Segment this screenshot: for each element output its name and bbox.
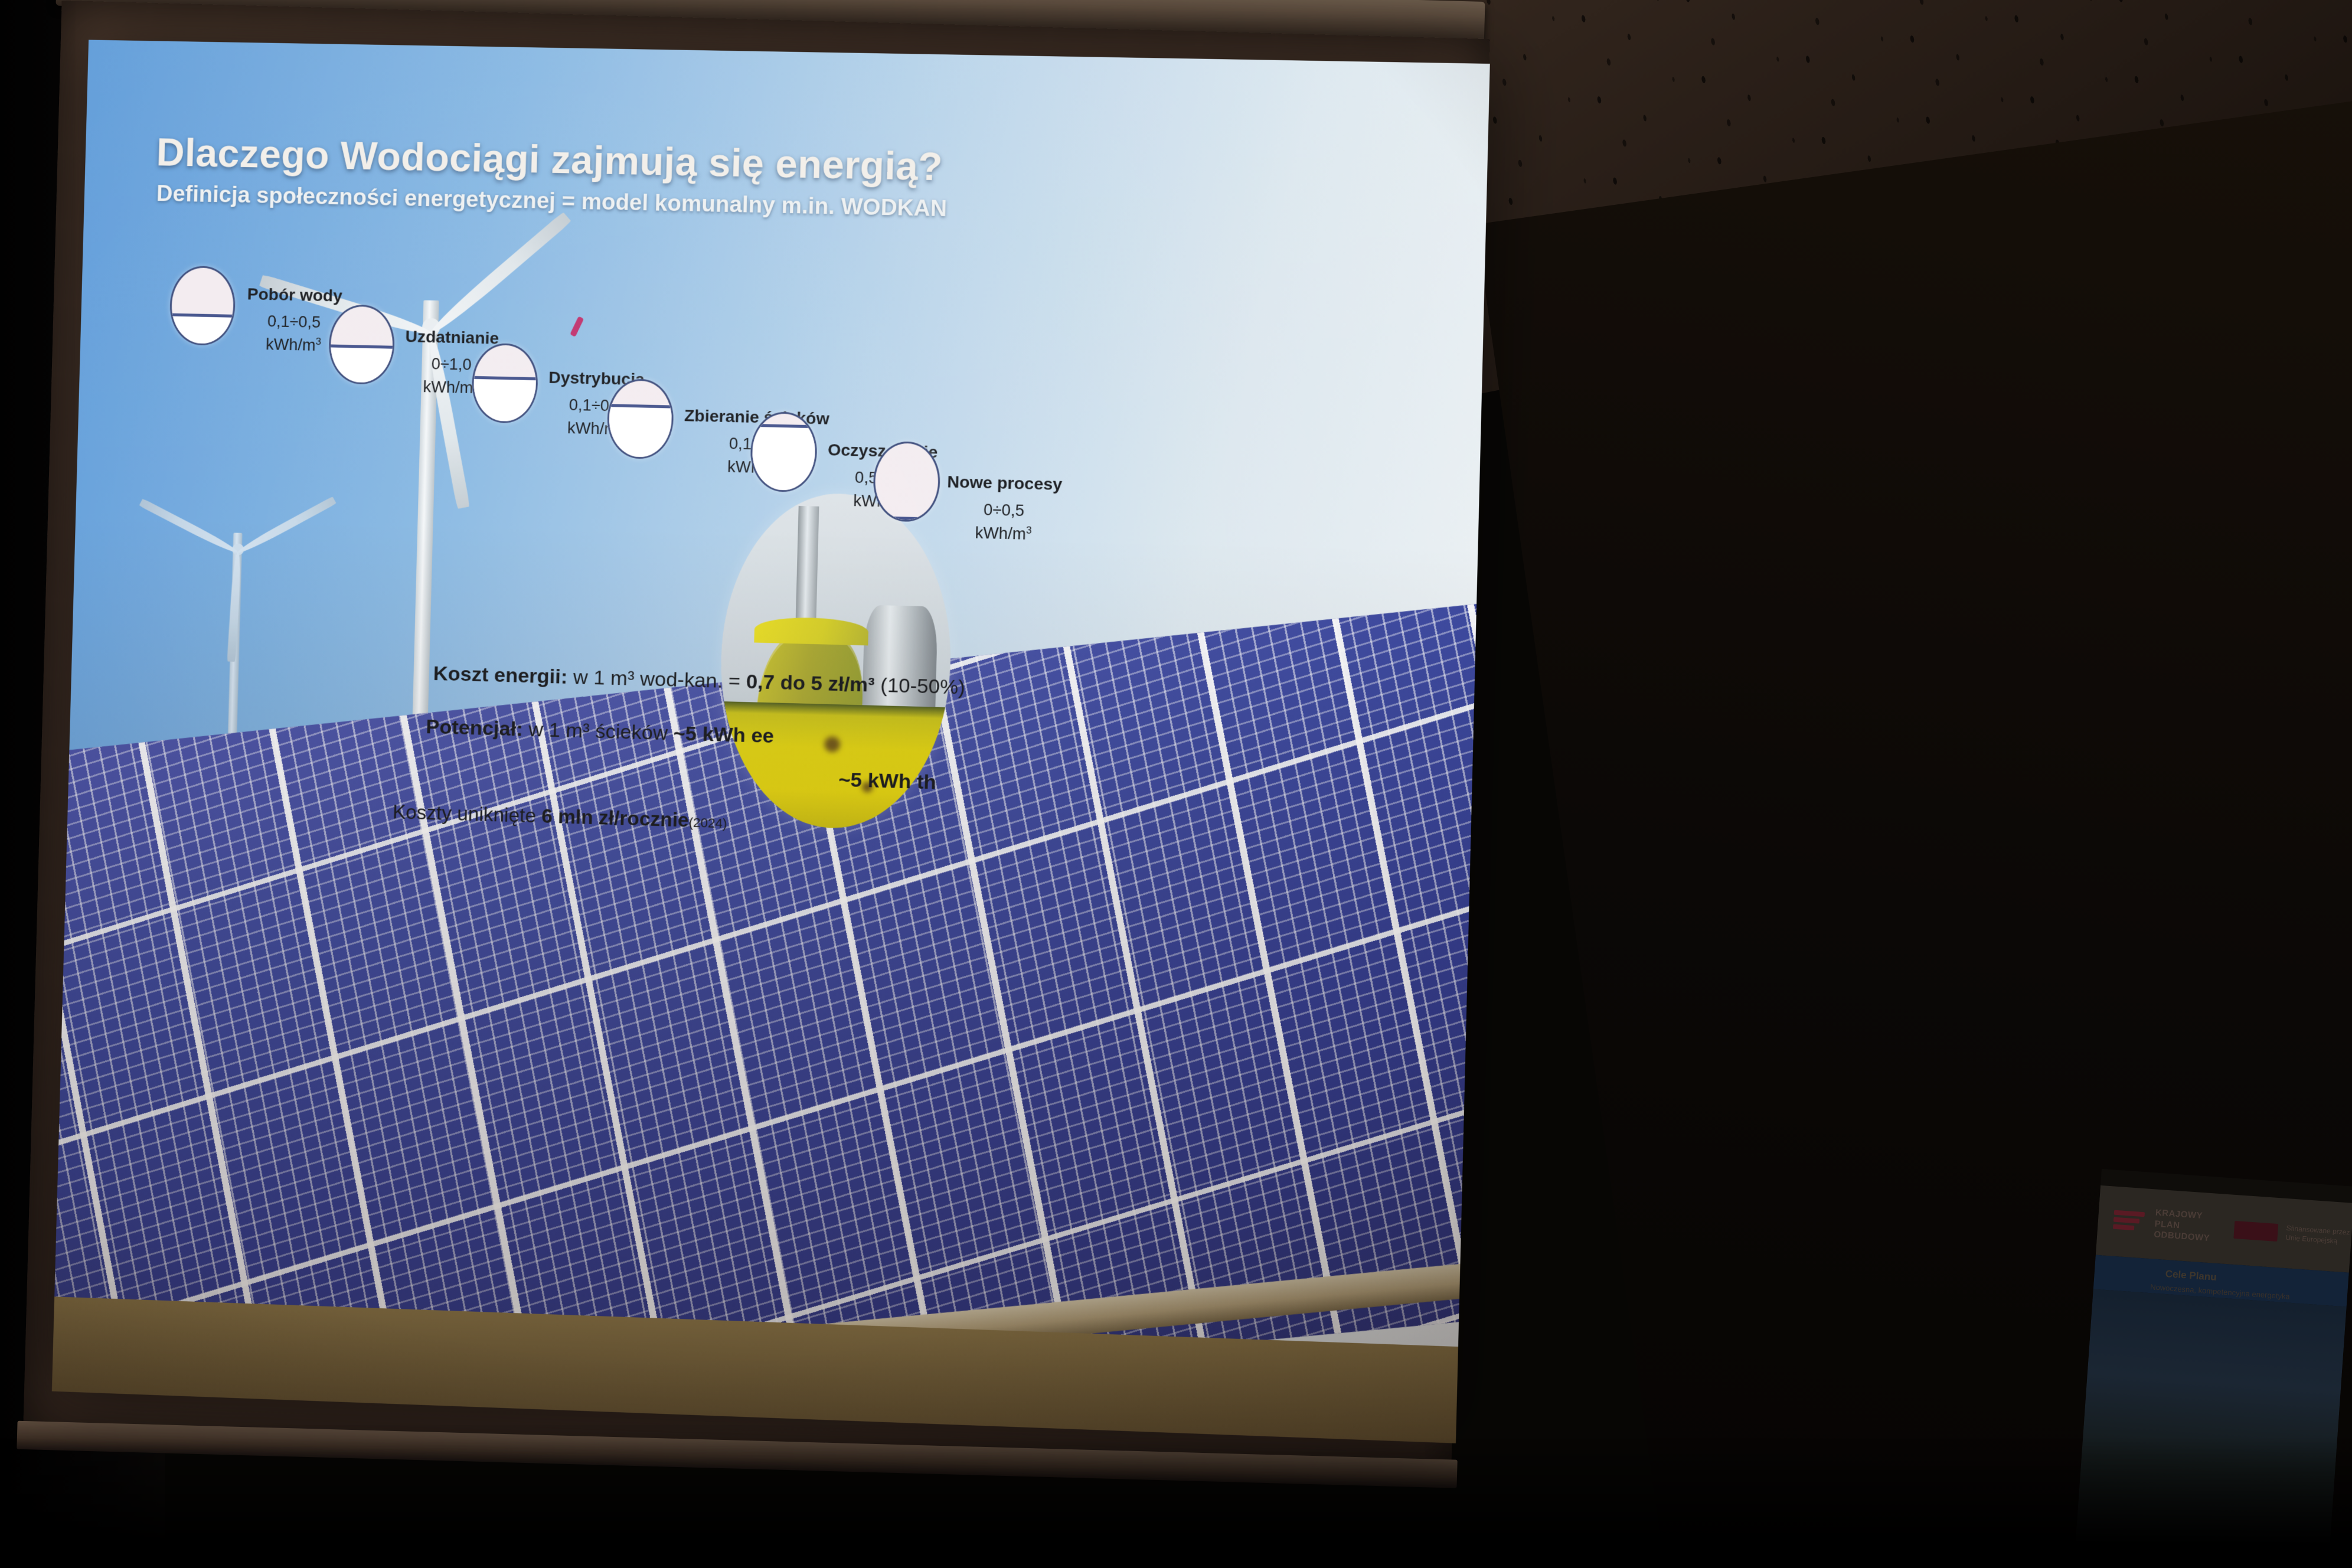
water-gauge-icon (169, 266, 236, 346)
step-label: Nowe procesy (947, 472, 1063, 494)
eu-flag-icon (2233, 1221, 2278, 1242)
gauge-fill (169, 313, 236, 344)
conference-room-scene: Dlaczego Wodociągi zajmują się energią? … (0, 0, 2352, 1568)
potential-value-ee: ~5 kWh ee (673, 722, 774, 747)
step-unit: kWh/m3 (246, 333, 341, 358)
banner-title: Cele Planu (2165, 1268, 2217, 1283)
step-value: 0,1÷0,5 (246, 310, 342, 335)
potential-label: Potencjał: (426, 716, 523, 741)
avoided-label: Koszty uniknięte (393, 801, 542, 827)
floor-shadow (0, 1438, 2352, 1568)
cost-value: 0,7 do 5 zł/m³ (746, 671, 875, 697)
potential-text: w 1 m³ ścieków (522, 718, 674, 744)
step-value: 0÷0,5 (946, 498, 1062, 524)
avoided-year: (2024) (688, 815, 727, 831)
step-label: Pobór wody (247, 285, 342, 306)
gauge-fill (471, 375, 539, 422)
potential-value-th: ~5 kWh th (838, 769, 936, 795)
gauge-fill (873, 516, 941, 521)
projection-screen-assembly: Dlaczego Wodociągi zajmują się energią? … (0, 0, 1558, 1523)
water-gauge-icon (750, 411, 818, 493)
banner-logo-text: KRAJOWY PLAN ODBUDOWY (2154, 1207, 2212, 1244)
step-label: Uzdatnianie (405, 327, 499, 348)
water-gauge-icon (606, 378, 674, 459)
water-gauge-icon (328, 304, 395, 385)
step-unit: kWh/m3 (946, 521, 1061, 547)
gauge-fill (328, 345, 395, 383)
cost-text: w 1 m³ wod-kan. = (567, 666, 746, 693)
cost-percent: (10-50%) (874, 674, 965, 698)
krajowy-plan-odbudowy-logo-icon (2112, 1208, 2147, 1237)
cost-label: Koszt energii: (433, 662, 567, 688)
gauge-fill (606, 404, 674, 458)
projected-slide: Dlaczego Wodociągi zajmują się energią? … (52, 40, 1490, 1443)
gauge-fill (750, 424, 818, 491)
water-gauge-icon (471, 343, 539, 424)
eu-funding-text: Sfinansowane przez Unię Europejską (2285, 1224, 2350, 1247)
avoided-value: 6 mln zł/rocznie (541, 805, 689, 831)
